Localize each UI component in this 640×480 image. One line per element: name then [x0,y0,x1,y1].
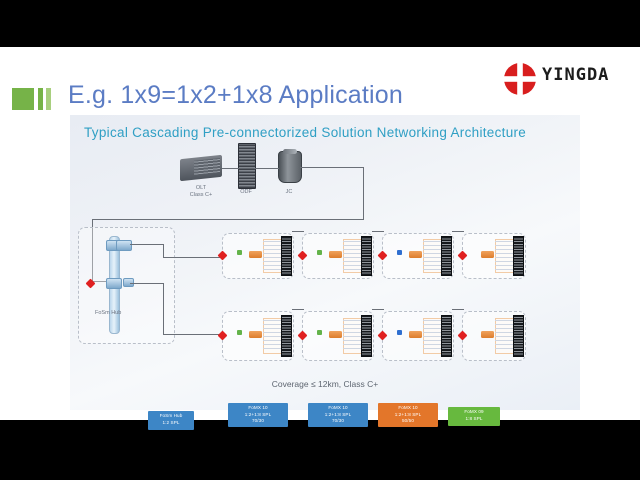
fanout-lines [423,320,441,350]
fanout-lines [263,320,281,350]
legend-fosm-hub: FoSm Hub 1:2 SPL [148,411,194,430]
fanout-lines [495,320,513,350]
node-connector-red [378,251,388,261]
hub-connector-red [86,279,96,289]
wire-b1-b2 [292,309,304,310]
hub-clamp-mid [106,278,122,289]
node-connector-red [298,251,308,261]
page-title: E.g. 1x9=1x2+1x8 Application [68,81,403,110]
slide-canvas: E.g. 1x9=1x2+1x8 Application YINGDA Typi… [0,47,640,420]
node-port-indicator [317,330,322,335]
splitter-module [329,251,342,258]
fiber-ribbon-block [361,315,372,357]
olt-chassis-icon [180,155,222,181]
splitter-module [481,251,494,258]
node-connector-red [378,331,388,341]
fiber-ribbon-block [513,236,524,276]
node-connector-red [218,331,228,341]
wire-b3-b4 [452,309,464,310]
fanout-lines [495,241,513,269]
coverage-note: Coverage ≤ 12km, Class C+ [70,379,580,389]
wire-back-left [92,219,364,220]
title-accent-block [12,88,34,110]
splitter-module [329,331,342,338]
node-box-t4 [462,233,526,279]
node-box-b4 [462,311,526,361]
jc-cap [283,149,297,154]
splitter-module [249,251,262,258]
wire-t3-t4 [452,231,464,232]
legend-fomx09: FoMX 09 1:8 SPL [448,407,500,426]
node-box-b3 [382,311,454,361]
node-port-indicator [397,250,402,255]
splitter-module [249,331,262,338]
node-connector-red [218,251,228,261]
splitter-module [481,331,494,338]
splitter-module [409,331,422,338]
legend-fomx10-c: FoMX 10 1:2+1:8 SPL 50/50 [378,403,438,427]
joint-closure-icon [278,151,302,183]
hub-drop-clamp [116,240,132,251]
node-port-indicator [317,250,322,255]
fiber-ribbon-block [441,236,452,276]
odf-rack-icon [238,143,256,189]
olt-ports [194,158,220,175]
brand-name: YINGDA [542,65,609,85]
diagram-title: Typical Cascading Pre-connectorized Solu… [84,125,526,140]
node-box-t2 [302,233,374,279]
jc-label: JC [261,189,317,196]
wire-hub-top-feed [163,257,223,258]
node-box-t1 [222,233,294,279]
brand-logo: YINGDA [502,55,622,103]
node-box-t3 [382,233,454,279]
wire-right-down [363,167,364,219]
fanout-lines [343,241,361,269]
wire-hub-bot-riser [163,283,164,335]
node-connector-red [298,331,308,341]
fiber-ribbon-block [513,315,524,357]
wire-hub-top-riser [163,244,164,258]
node-connector-red [458,331,468,341]
wire-t1-t2 [292,231,304,232]
fiber-ribbon-block [441,315,452,357]
node-box-b2 [302,311,374,361]
node-box-b1 [222,311,294,361]
node-port-indicator [237,330,242,335]
fanout-lines [263,241,281,269]
wire-olt-odf [222,168,239,169]
screenshot-stage: E.g. 1x9=1x2+1x8 Application YINGDA Typi… [0,0,640,480]
fanout-lines [423,241,441,269]
fanout-lines [343,320,361,350]
title-accent-bar-1 [38,88,43,110]
legend-fomx10-a: FoMX 10 1:2+1:8 SPL 70/30 [228,403,288,427]
wire-hub-bot-feed [163,334,223,335]
title-accent-bar-2 [46,88,51,110]
diagram-panel: Typical Cascading Pre-connectorized Solu… [70,115,580,410]
legend-fomx10-b: FoMX 10 1:2+1:8 SPL 70/30 [308,403,368,427]
wire-b2-b3 [372,309,384,310]
splitter-module [409,251,422,258]
wire-hub-to-bot-row [130,283,164,284]
wire-jc-right [300,167,364,168]
wire-hub-to-top-row [130,244,164,245]
node-connector-red [458,251,468,261]
fosm-hub-label: FoSm Hub [95,310,121,316]
wire-odf-jc [254,168,279,169]
wire-t2-t3 [372,231,384,232]
yingda-circle-cross-logo-icon [502,61,538,97]
node-port-indicator [237,250,242,255]
fiber-ribbon-block [281,236,292,276]
fiber-ribbon-block [361,236,372,276]
node-port-indicator [397,330,402,335]
fiber-ribbon-block [281,315,292,357]
